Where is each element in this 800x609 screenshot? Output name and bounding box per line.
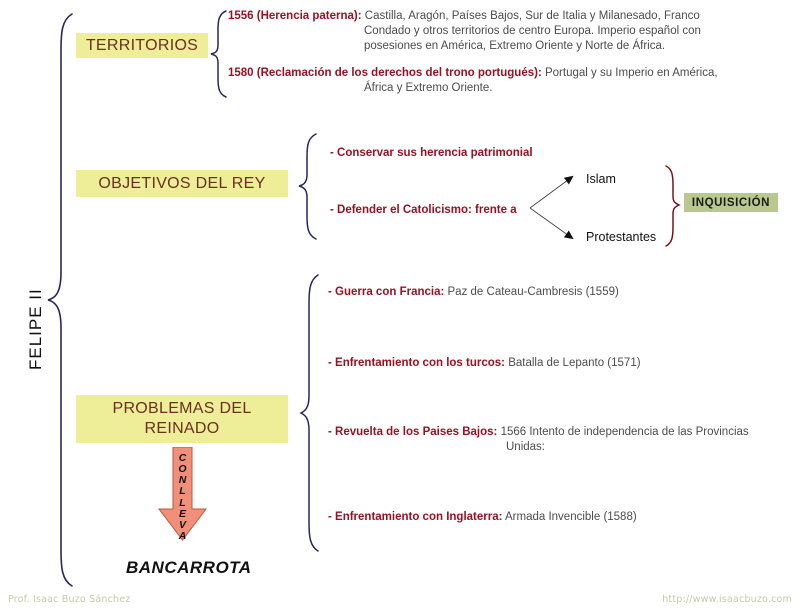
entry-problemas-inglaterra: - Enfrentamiento con Inglaterra: Armada … <box>328 510 788 525</box>
entry-lead: - Enfrentamiento con Inglaterra: <box>328 511 502 523</box>
conlleva-letter: E <box>155 509 210 520</box>
entry-territorios-1556: 1556 (Herencia paterna): Castilla, Aragó… <box>228 9 796 55</box>
entry-line: África y Extremo Oriente. <box>228 81 796 96</box>
branch-label-islam: Islam <box>586 172 616 186</box>
entry-lead: 1556 (Herencia paterna): <box>228 10 362 22</box>
entry-line: Portugal y su Imperio en América, <box>545 67 718 79</box>
entry-line: Unidas: <box>328 441 545 453</box>
entry-line: Paz de Cateau-Cambresis (1559) <box>448 286 619 298</box>
entry-territorios-1580: 1580 (Reclamación de los derechos del tr… <box>228 66 796 96</box>
brace-problemas <box>298 272 322 554</box>
arrow-shape <box>155 447 210 542</box>
brace-territorios <box>208 8 230 100</box>
conlleva-letter: V <box>155 520 210 531</box>
entry-line: Batalla de Lepanto (1571) <box>508 357 640 369</box>
entry-problemas-paisesbajos: - Revuelta de los Paises Bajos: 1566 Int… <box>328 425 796 455</box>
branch-arrows <box>528 168 594 246</box>
result-box-inquisicion[interactable]: INQUISICIÓN <box>684 193 778 212</box>
root-label-wrapper: FELIPE II <box>8 0 38 609</box>
conlleva-letter: L <box>155 498 210 509</box>
entry-line: Armada Invencible (1588) <box>505 511 637 523</box>
conlleva-letters: C O N L L E V A <box>155 447 210 542</box>
footer-url[interactable]: http://www.isaacbuzo.com <box>662 594 792 605</box>
conlleva-letter: O <box>155 464 210 475</box>
entry-lead: - Enfrentamiento con los turcos: <box>328 357 505 369</box>
category-label-line: PROBLEMAS DEL <box>112 399 251 419</box>
brace-inquisicion <box>662 163 682 249</box>
entry-line: Castilla, Aragón, Países Bajos, Sur de I… <box>365 10 700 22</box>
entry-lead: - Revuelta de los Paises Bajos: <box>328 426 497 438</box>
conlleva-letter: A <box>155 531 210 542</box>
entry-line: posesiones en América, Extremo Oriente y… <box>228 39 796 54</box>
conlleva-letter: N <box>155 475 210 486</box>
brace-objetivos <box>296 131 320 243</box>
category-box-problemas[interactable]: PROBLEMAS DEL REINADO <box>76 395 288 443</box>
conlleva-letter: C <box>155 453 210 464</box>
entry-problemas-turcos: - Enfrentamiento con los turcos: Batalla… <box>328 356 788 371</box>
entry-lead: - Guerra con Francia: <box>328 286 444 298</box>
category-box-territorios[interactable]: TERRITORIOS <box>76 33 208 58</box>
conlleva-arrow: C O N L L E V A <box>155 447 210 542</box>
entry-problemas-francia: - Guerra con Francia: Paz de Cateau-Camb… <box>328 285 788 300</box>
diagram-canvas: FELIPE II TERRITORIOS 1556 (Herencia pat… <box>0 0 800 609</box>
conlleva-letter: L <box>155 486 210 497</box>
entry-line: Condado y otros territorios de centro Eu… <box>228 24 796 39</box>
category-box-objetivos[interactable]: OBJETIVOS DEL REY <box>76 170 288 197</box>
branch-label-protestantes: Protestantes <box>586 230 656 244</box>
category-label-line: REINADO <box>145 419 220 439</box>
entry-lead: 1580 (Reclamación de los derechos del tr… <box>228 67 542 79</box>
footer-author: Prof. Isaac Buzo Sánchez <box>8 594 131 605</box>
outcome-bancarrota: BANCARROTA <box>126 558 252 578</box>
root-label: FELIPE II <box>26 288 46 370</box>
main-brace <box>44 10 76 590</box>
entry-objetivos-conservar: - Conservar sus herencia patrimonial <box>330 146 630 161</box>
entry-line: 1566 Intento de independencia de las Pro… <box>501 426 749 438</box>
